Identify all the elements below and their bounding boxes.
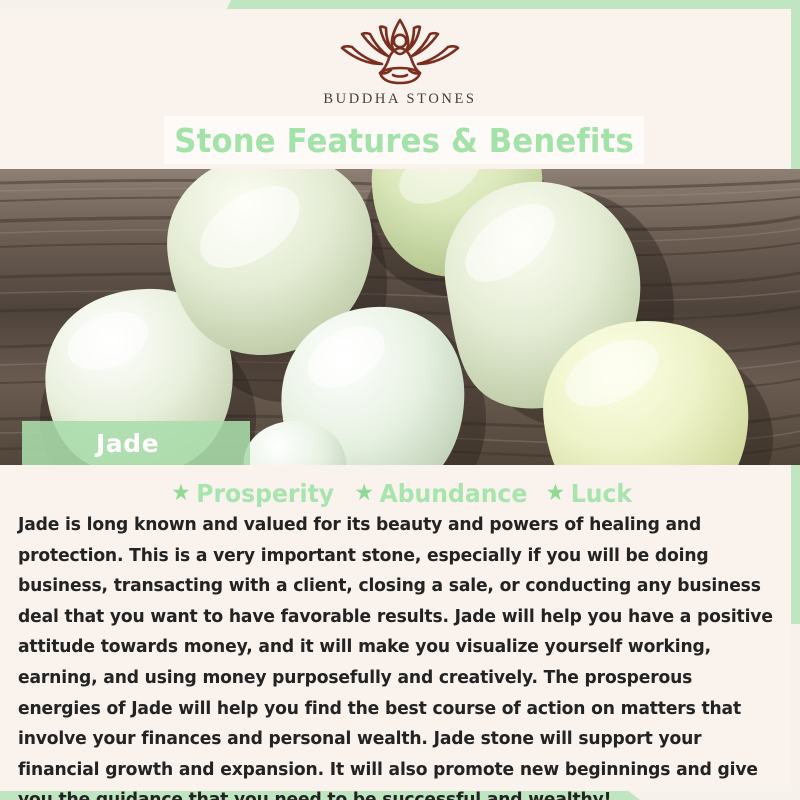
page-title: Stone Features & Benefits — [174, 121, 634, 160]
description-text: Jade is long known and valued for its be… — [18, 510, 774, 800]
benefit-item-luck: ★ Luck — [545, 479, 631, 508]
stone-photo: Jade — [0, 169, 800, 465]
benefit-label: Luck — [570, 479, 631, 508]
star-icon: ★ — [545, 482, 564, 505]
title-banner: Stone Features & Benefits — [164, 116, 644, 164]
star-icon: ★ — [354, 482, 373, 505]
stone-name-tag: Jade — [22, 421, 250, 465]
star-icon: ★ — [171, 482, 190, 505]
benefits-row: ★ Prosperity ★ Abundance ★ Luck — [0, 476, 800, 510]
benefit-item-prosperity: ★ Prosperity — [171, 479, 334, 508]
brand-logo: BUDDHA STONES — [0, 14, 800, 108]
lotus-meditation-icon — [324, 14, 476, 88]
benefit-label: Prosperity — [196, 479, 334, 508]
brand-wordmark: BUDDHA STONES — [323, 91, 476, 108]
poster-root: BUDDHA STONES Stone Features & Benefits — [0, 0, 800, 800]
stone-name-label: Jade — [96, 429, 159, 458]
benefit-item-abundance: ★ Abundance — [354, 479, 527, 508]
benefit-label: Abundance — [379, 479, 527, 508]
